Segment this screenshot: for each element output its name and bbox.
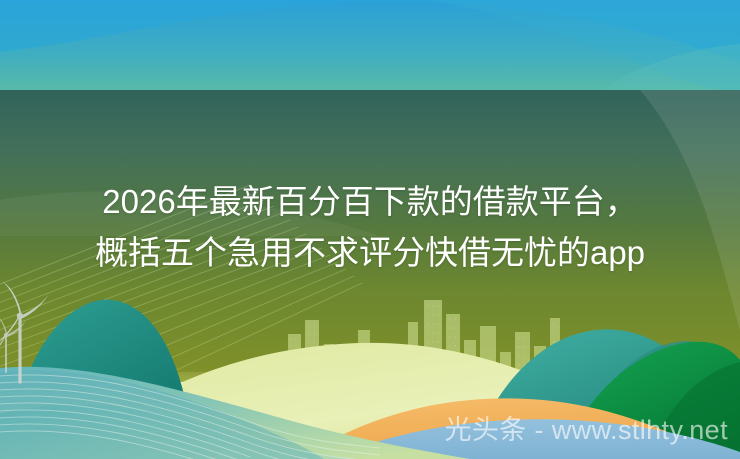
eco-banner-image: 2026年最新百分百下款的借款平台， 概括五个急用不求评分快借无忧的app 光头… [0,0,740,459]
background-scene [0,0,740,459]
